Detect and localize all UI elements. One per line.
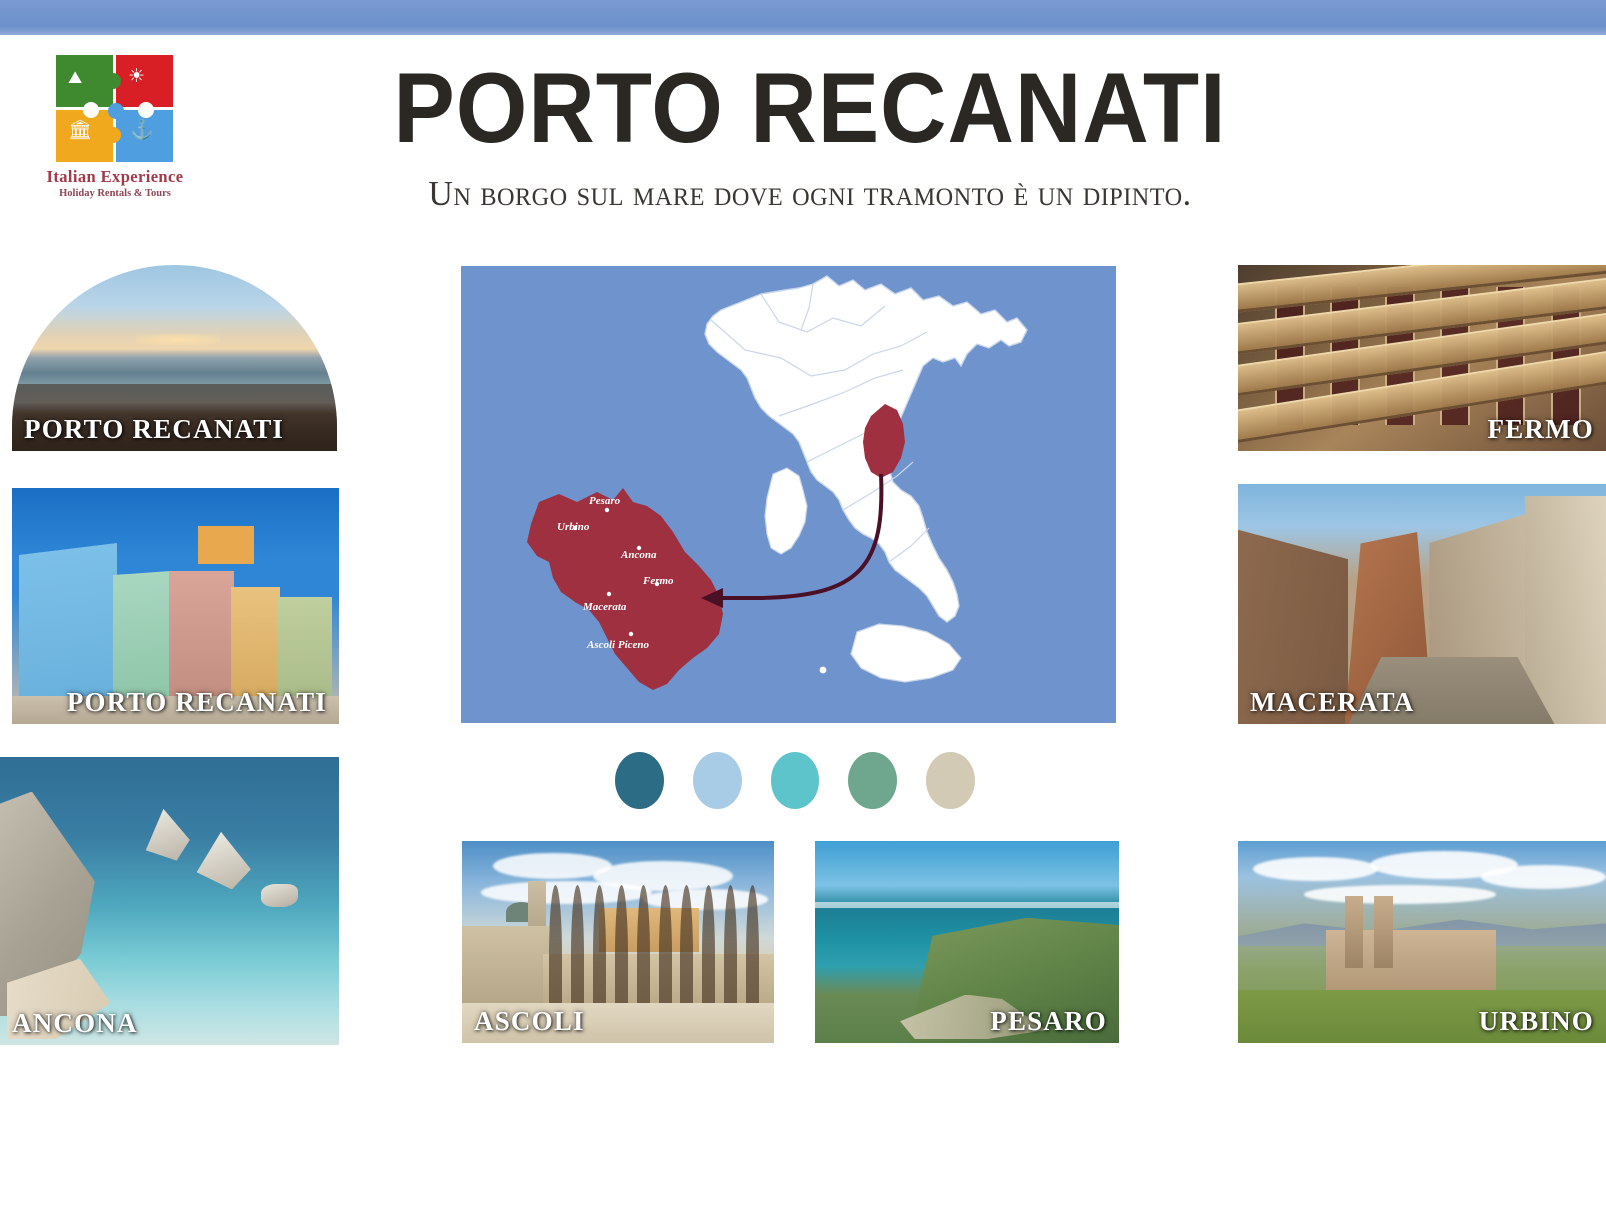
map-label-fermo: Fermo: [642, 575, 674, 587]
swatch-sage-green: [848, 752, 897, 809]
anchor-icon: ⚓: [130, 121, 154, 140]
marche-region-callout: [527, 488, 723, 690]
tile-caption: MACERATA: [1250, 687, 1415, 718]
cloud: [481, 881, 653, 903]
page-subtitle: Un borgo sul mare dove ogni tramonto è u…: [267, 174, 1353, 214]
sea-rock-one: [146, 809, 190, 861]
sea-horizon: [815, 902, 1119, 908]
photo-tile-macerata: MACERATA: [1238, 484, 1606, 724]
swatch-sand-beige: [926, 752, 975, 809]
sun-icon: ☀: [128, 67, 145, 86]
map-label-ascoli: Ascoli Piceno: [586, 639, 650, 651]
marche-location-map: Pesaro Urbino Ancona Fermo Macerata Asco…: [461, 266, 1116, 723]
puzzle-notch-left: [83, 102, 99, 118]
sicily-shape: [851, 624, 961, 682]
tile-caption: ANCONA: [12, 1008, 138, 1039]
tile-caption: ASCOLI: [474, 1006, 585, 1037]
sardinia-shape: [765, 468, 807, 554]
cloud: [1253, 857, 1378, 881]
sea-rock-two: [197, 832, 251, 890]
cloud: [1304, 885, 1495, 903]
map-label-pesaro: Pesaro: [589, 495, 621, 507]
photo-tile-porto-recanati-sunset: PORTO RECANATI: [12, 265, 337, 451]
house-pink: [169, 571, 234, 706]
puzzle-notch-right: [138, 102, 154, 118]
photo-tile-porto-recanati-houses: PORTO RECANATI: [12, 488, 339, 724]
brand-tagline: Holiday Rentals & Tours: [20, 188, 210, 199]
puzzle-knob-lower: [105, 127, 121, 143]
tile-caption: PORTO RECANATI: [67, 687, 327, 718]
map-label-macerata: Macerata: [582, 601, 627, 613]
map-label-urbino: Urbino: [557, 521, 590, 533]
puzzle-knob-middle: [108, 103, 124, 119]
brand-logo: ⛰ ☀ 🏛 ⚓ Italian Experience Holiday Renta…: [20, 55, 210, 199]
swatch-powder-blue: [693, 752, 742, 809]
tile-caption: FERMO: [1488, 414, 1595, 445]
map-label-ancona: Ancona: [620, 549, 657, 561]
photo-tile-ancona: ANCONA: [0, 757, 339, 1045]
mountain-icon: ⛰: [68, 69, 82, 86]
puzzle-logo-icon: ⛰ ☀ 🏛 ⚓: [56, 55, 174, 163]
islet-dot: [820, 667, 827, 674]
cloud: [1481, 865, 1606, 889]
sun-glow: [136, 334, 221, 345]
building-far: [1525, 496, 1606, 724]
top-accent-bar: [0, 0, 1606, 35]
swatch-deep-teal: [615, 752, 664, 809]
color-palette: [615, 752, 975, 809]
photo-tile-urbino: URBINO: [1238, 841, 1606, 1043]
tile-caption: URBINO: [1479, 1006, 1594, 1037]
map-svg: Pesaro Urbino Ancona Fermo Macerata Asco…: [461, 266, 1116, 723]
palazzo-left: [462, 926, 549, 1007]
palace-turret-right: [1374, 896, 1392, 969]
house-blue: [19, 543, 117, 711]
page-title: PORTO RECANATI: [289, 58, 1331, 157]
ochre-roof: [198, 526, 254, 564]
photo-tile-fermo: FERMO: [1238, 265, 1606, 451]
brand-name: Italian Experience: [20, 167, 210, 187]
puzzle-knob-upper: [105, 73, 121, 89]
monument-icon: 🏛: [68, 121, 92, 140]
sea-rock-three: [261, 884, 298, 907]
photo-tile-ascoli: ASCOLI: [462, 841, 774, 1043]
palace-turret-left: [1345, 896, 1363, 969]
swatch-turquoise: [771, 752, 820, 809]
tile-caption: PORTO RECANATI: [24, 414, 284, 445]
tile-caption: PESARO: [990, 1006, 1107, 1037]
photo-tile-pesaro: PESARO: [815, 841, 1119, 1043]
